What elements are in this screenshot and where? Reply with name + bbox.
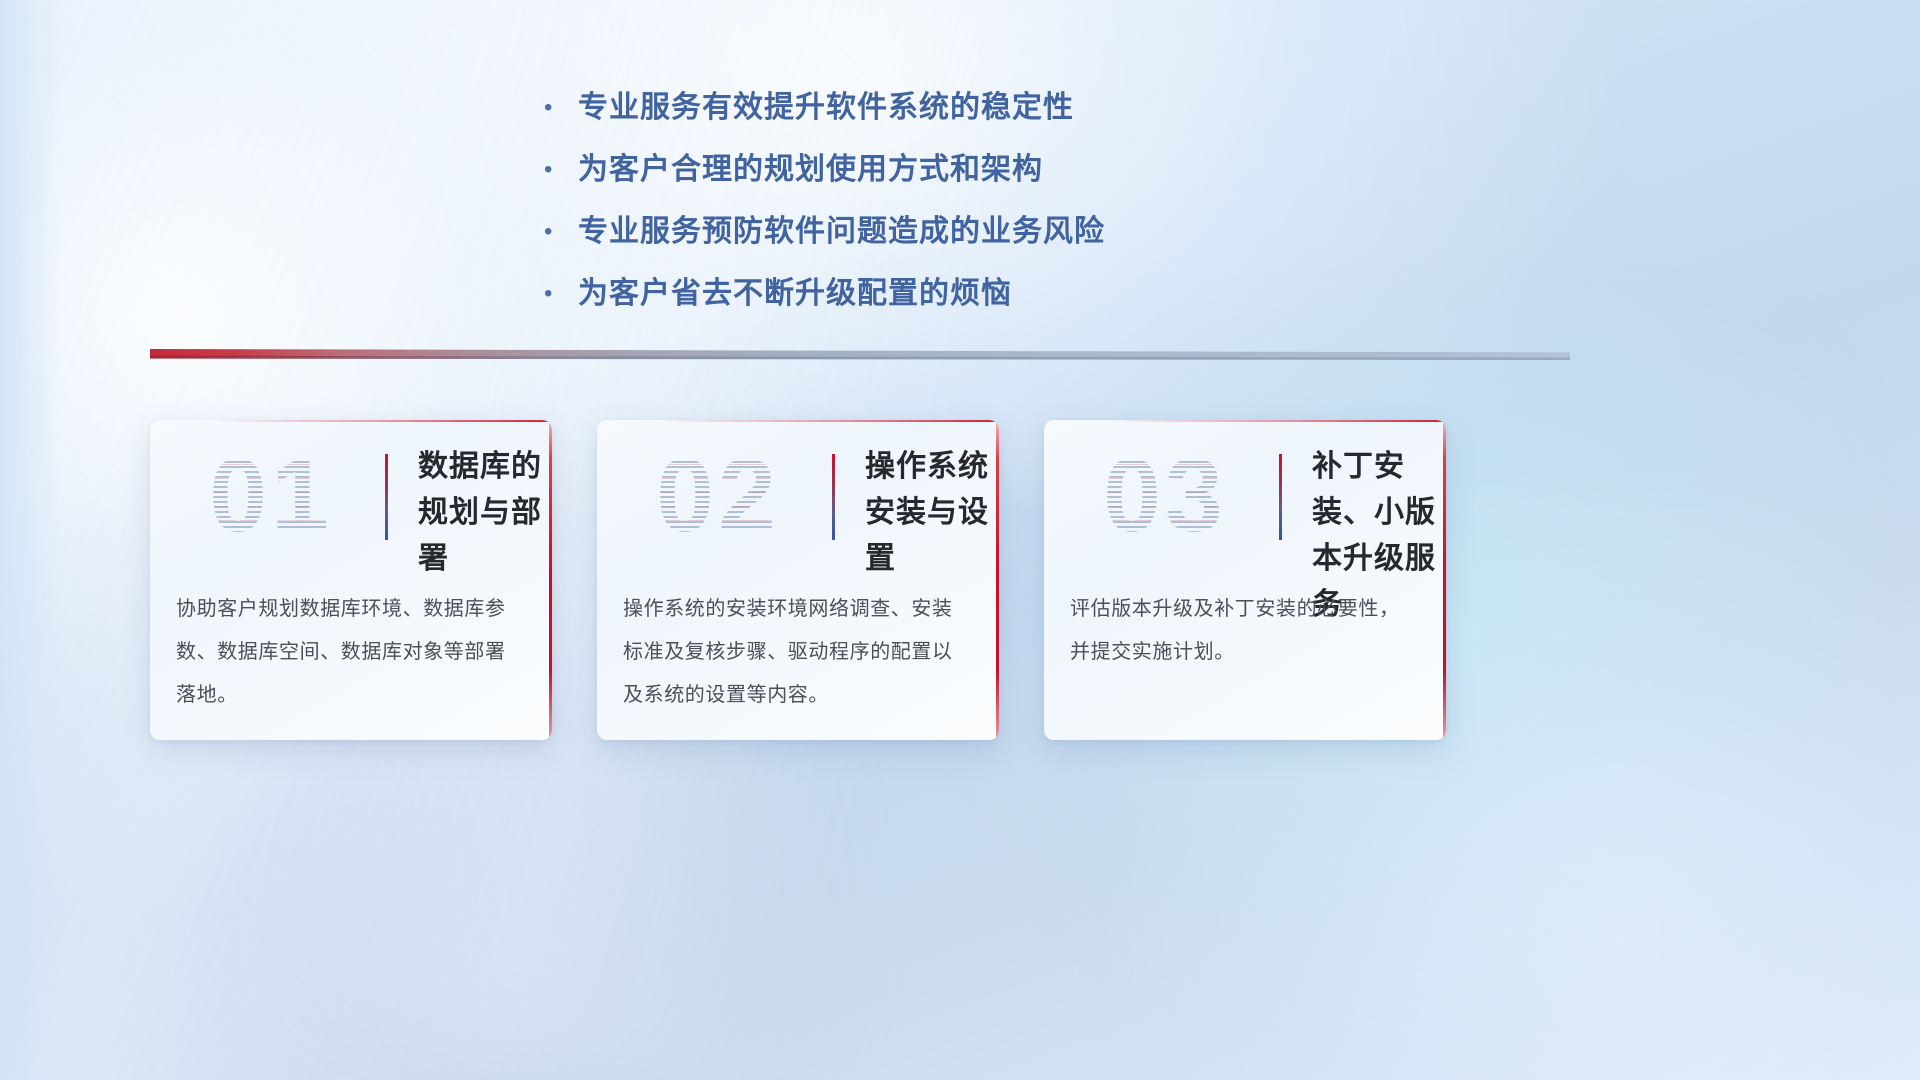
card-body-text: 操作系统的安装环境网络调查、安装标准及复核步骤、驱动程序的配置以及系统的设置等内… — [623, 588, 973, 717]
card-title-divider-bar — [832, 454, 835, 540]
service-card-01[interactable]: 01 01 数据库的规划与部署 协助客户规划数据库环境、数据库参数、数据库空间、… — [150, 420, 552, 740]
service-card-02[interactable]: 02 02 操作系统安装与设置 操作系统的安装环境网络调查、安装标准及复核步骤、… — [597, 420, 999, 740]
bullet-text-1: 专业服务有效提升软件系统的稳定性 — [578, 88, 1074, 128]
bullet-marker-icon: • — [540, 88, 578, 128]
card-title: 操作系统安装与设置 — [865, 444, 995, 582]
card-body-text: 评估版本升级及补丁安装的必要性，并提交实施计划。 — [1070, 588, 1420, 674]
service-card-list: 01 01 数据库的规划与部署 协助客户规划数据库环境、数据库参数、数据库空间、… — [150, 420, 1446, 740]
bullet-marker-icon: • — [540, 150, 578, 190]
card-ghost-number: 03 03 — [1070, 436, 1260, 556]
card-header: 03 03 补丁安装、小版本升级服务 — [1044, 420, 1446, 575]
card-header: 01 01 数据库的规划与部署 — [150, 420, 552, 575]
card-ghost-number: 02 02 — [623, 436, 813, 556]
ghost-number-text: 03 — [1103, 436, 1227, 556]
bullet-marker-icon: • — [540, 212, 578, 252]
service-card-03[interactable]: 03 03 补丁安装、小版本升级服务 评估版本升级及补丁安装的必要性，并提交实施… — [1044, 420, 1446, 740]
bullet-text-3: 专业服务预防软件问题造成的业务风险 — [578, 212, 1105, 252]
ghost-number-text: 01 — [209, 436, 333, 556]
background-left-edge-fade — [0, 0, 60, 1080]
bullet-item-4: • 为客户省去不断升级配置的烦恼 — [540, 274, 1440, 314]
ghost-number-tint: 02 — [623, 436, 813, 556]
card-title-divider-bar — [1279, 454, 1282, 540]
ghost-number-text: 02 — [656, 436, 780, 556]
ghost-number-tint: 01 — [176, 436, 366, 556]
ghost-number-tint: 03 — [1070, 436, 1260, 556]
slide-root: • 专业服务有效提升软件系统的稳定性 • 为客户合理的规划使用方式和架构 • 专… — [0, 0, 1920, 1080]
bullet-item-2: • 为客户合理的规划使用方式和架构 — [540, 150, 1440, 190]
card-title-divider-bar — [385, 454, 388, 540]
bullet-text-4: 为客户省去不断升级配置的烦恼 — [578, 274, 1012, 314]
bullet-item-3: • 专业服务预防软件问题造成的业务风险 — [540, 212, 1440, 252]
bullet-item-1: • 专业服务有效提升软件系统的稳定性 — [540, 88, 1440, 128]
card-title: 数据库的规划与部署 — [418, 444, 548, 582]
section-divider — [150, 345, 1570, 371]
card-header: 02 02 操作系统安装与设置 — [597, 420, 999, 575]
card-body-text: 协助客户规划数据库环境、数据库参数、数据库空间、数据库对象等部署落地。 — [176, 588, 526, 717]
bullet-marker-icon: • — [540, 274, 578, 314]
card-ghost-number: 01 01 — [176, 436, 366, 556]
bullet-text-2: 为客户合理的规划使用方式和架构 — [578, 150, 1043, 190]
benefits-bullet-list: • 专业服务有效提升软件系统的稳定性 • 为客户合理的规划使用方式和架构 • 专… — [540, 88, 1440, 336]
